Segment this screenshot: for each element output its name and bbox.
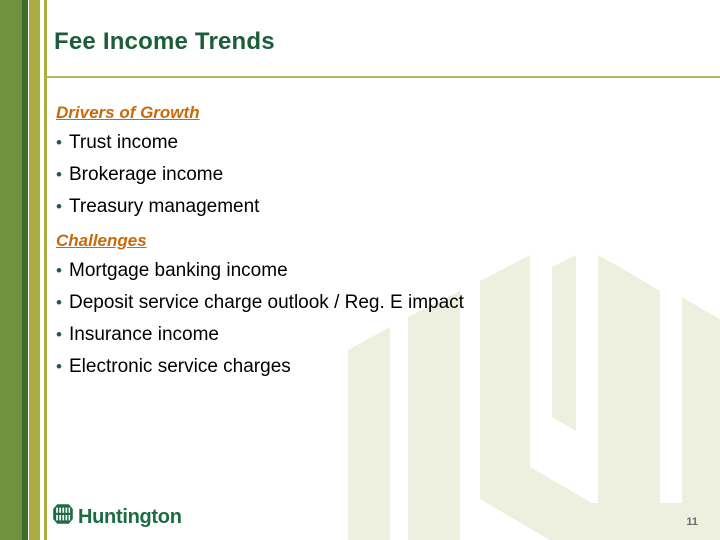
list-item: • Insurance income [56, 319, 676, 351]
bullet-icon: • [56, 127, 69, 159]
list-item-label: Treasury management [69, 191, 259, 223]
huntington-logo: Huntington [52, 503, 182, 530]
huntington-hexagon-icon [52, 503, 74, 530]
bullet-icon: • [56, 191, 69, 223]
list-item-label: Mortgage banking income [69, 255, 288, 287]
section-heading-challenges: Challenges [56, 228, 676, 254]
list-item-label: Trust income [69, 127, 178, 159]
slide-canvas: Fee Income Trends Drivers of Growth • Tr… [0, 0, 720, 540]
bullet-icon: • [56, 255, 69, 287]
left-accent-stripe-green [0, 0, 22, 540]
page-number: 11 [686, 516, 698, 528]
slide-title: Fee Income Trends [54, 28, 275, 56]
bullet-icon: • [56, 159, 69, 191]
bullet-icon: • [56, 319, 69, 351]
list-item: • Trust income [56, 127, 676, 159]
list-item: • Deposit service charge outlook / Reg. … [56, 287, 676, 319]
list-item: • Treasury management [56, 191, 676, 223]
left-accent-stripe-olive [29, 0, 40, 540]
left-accent-stripe-dark-green [22, 0, 28, 540]
bullet-icon: • [56, 287, 69, 319]
list-item-label: Deposit service charge outlook / Reg. E … [69, 287, 464, 319]
list-item: • Brokerage income [56, 159, 676, 191]
list-item: • Electronic service charges [56, 351, 676, 383]
list-item-label: Electronic service charges [69, 351, 291, 383]
huntington-wordmark: Huntington [78, 506, 182, 528]
bullet-icon: • [56, 351, 69, 383]
title-divider [46, 76, 720, 78]
list-item-label: Insurance income [69, 319, 219, 351]
slide-body: Drivers of Growth • Trust income • Broke… [56, 100, 676, 383]
list-item-label: Brokerage income [69, 159, 223, 191]
list-item: • Mortgage banking income [56, 255, 676, 287]
section-heading-drivers-of-growth: Drivers of Growth [56, 100, 676, 126]
left-accent-stripe-olive-thin [44, 0, 47, 540]
